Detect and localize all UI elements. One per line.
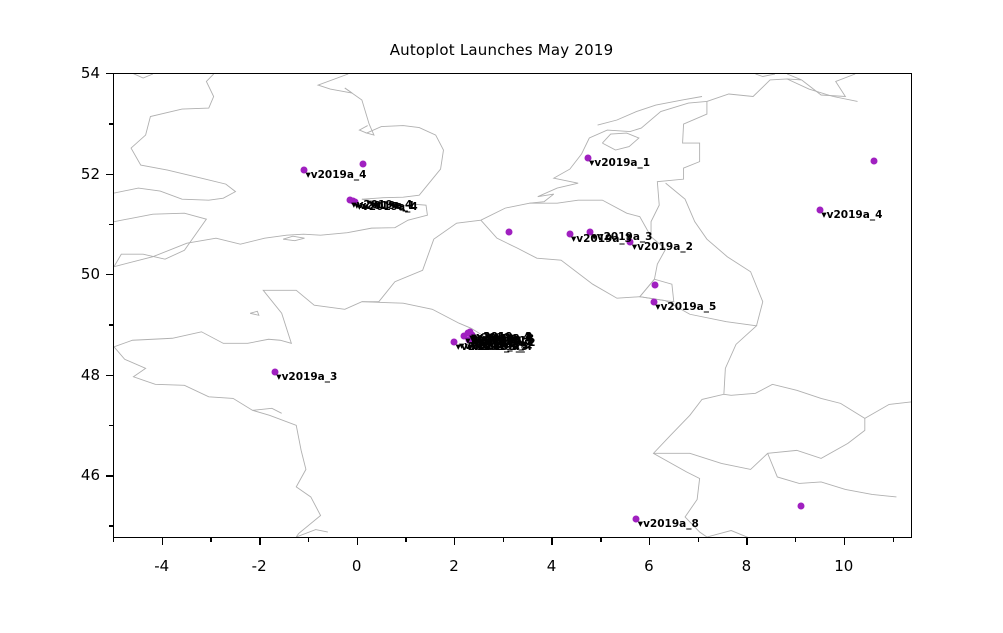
x-tick-label: 6 — [626, 557, 672, 575]
x-tick-minor — [405, 538, 406, 542]
x-tick-major — [454, 538, 455, 545]
coastline-path — [283, 236, 304, 240]
y-tick-major — [106, 73, 113, 74]
x-tick-label: 2 — [431, 557, 477, 575]
x-tick-label: 10 — [821, 557, 867, 575]
point-label: ▾v2019a_8 — [638, 518, 699, 530]
x-tick-minor — [503, 538, 504, 542]
coastline-path — [787, 79, 857, 102]
scatter-point[interactable] — [360, 161, 367, 168]
point-label: ▾v2019a_4 — [821, 209, 882, 221]
coastline-path — [707, 74, 802, 101]
coastline-path — [481, 220, 757, 537]
scatter-point[interactable] — [797, 503, 804, 510]
coastline-path — [129, 74, 153, 78]
coastline-path — [250, 311, 259, 315]
x-tick-label: -2 — [236, 557, 282, 575]
point-label: ▾v2019a_1 — [589, 157, 650, 169]
coastline-path — [602, 133, 639, 150]
coastline-path — [768, 453, 897, 497]
x-tick-minor — [698, 538, 699, 542]
point-label: ▾v2019a_4 — [357, 201, 418, 213]
plot-area: ▾v2019a_4▾v2019a_4▾v2019a_1▾v2019a_4▾v20… — [113, 73, 912, 538]
x-tick-major — [844, 538, 845, 545]
x-tick-major — [259, 538, 260, 545]
scatter-point[interactable] — [505, 229, 512, 236]
x-tick-label: 4 — [528, 557, 574, 575]
x-tick-minor — [308, 538, 309, 542]
coastline-path — [865, 402, 911, 419]
point-label: ▾v2019a_4 — [306, 169, 367, 181]
y-tick-major — [106, 274, 113, 275]
coastline-path — [651, 101, 707, 236]
x-tick-major — [162, 538, 163, 545]
x-tick-major — [746, 538, 747, 545]
coastline-path — [114, 74, 235, 200]
y-tick-label: 50 — [54, 265, 100, 283]
y-tick-major — [106, 475, 113, 476]
x-tick-minor — [893, 538, 894, 542]
x-tick-minor — [795, 538, 796, 542]
coastline-path — [707, 531, 804, 537]
point-label: ▾v2019a_3 — [276, 371, 337, 383]
x-tick-label: -4 — [139, 557, 185, 575]
x-tick-minor — [210, 538, 211, 542]
coastline-path — [653, 384, 864, 469]
y-tick-label: 48 — [54, 366, 100, 384]
coastline-path — [114, 203, 530, 347]
coastline-path — [318, 74, 352, 93]
point-label: ▾v2019a_4 — [471, 341, 532, 353]
y-tick-major — [106, 174, 113, 175]
coastline-path — [530, 101, 707, 203]
scatter-point[interactable] — [871, 158, 878, 165]
point-label: ▾v2019a_5 — [655, 301, 716, 313]
coastline-path — [114, 88, 443, 267]
x-tick-major — [551, 538, 552, 545]
coastline-path — [253, 408, 282, 413]
coastline-path — [114, 213, 206, 266]
x-tick-minor — [113, 538, 114, 542]
coastline-path — [296, 530, 328, 537]
point-label: ▾v2019a_2 — [632, 241, 693, 253]
coastline-path — [755, 74, 774, 76]
scatter-point[interactable] — [651, 282, 658, 289]
page-title: Autoplot Launches May 2019 — [0, 41, 1003, 59]
x-tick-label: 8 — [723, 557, 769, 575]
map-coastlines — [114, 74, 911, 537]
x-tick-major — [357, 538, 358, 545]
y-tick-label: 52 — [54, 165, 100, 183]
y-tick-label: 54 — [54, 64, 100, 82]
coastline-path — [359, 126, 367, 133]
x-tick-minor — [600, 538, 601, 542]
x-tick-label: 0 — [334, 557, 380, 575]
figure-canvas: Autoplot Launches May 2019 4648505254 -4… — [0, 0, 1003, 633]
x-tick-major — [649, 538, 650, 545]
y-tick-major — [106, 375, 113, 376]
y-tick-label: 46 — [54, 466, 100, 484]
coastline-path — [802, 74, 855, 97]
